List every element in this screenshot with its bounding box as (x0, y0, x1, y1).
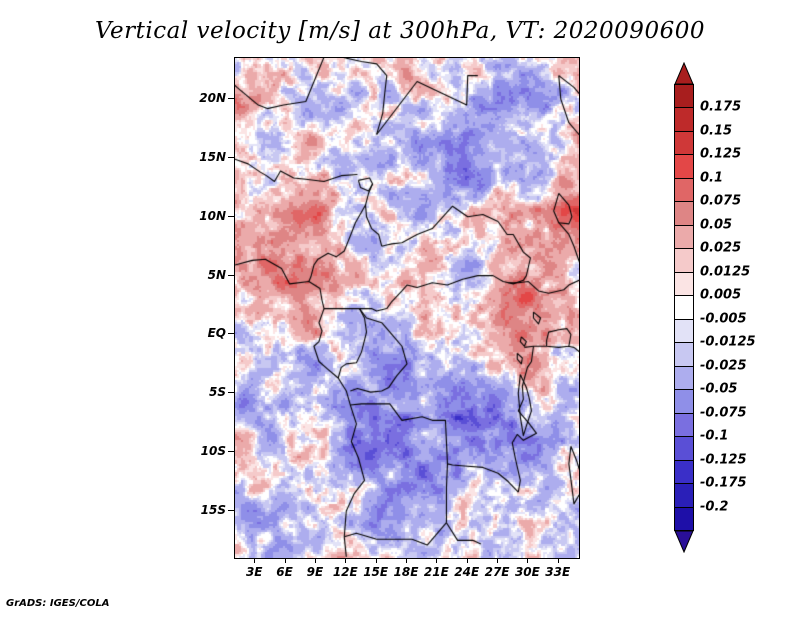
y-axis-tick-mark (228, 510, 234, 511)
footer-credit: GrADS: IGES/COLA (6, 598, 109, 609)
x-axis-tick-mark (315, 558, 316, 563)
colorbar-band (674, 295, 694, 319)
colorbar-tick-label: 0.005 (700, 288, 741, 303)
x-axis-tick-mark (285, 558, 286, 563)
x-axis-tick-mark (467, 558, 468, 563)
x-axis-tick-label: 15E (363, 565, 388, 579)
x-axis-tick-label: 21E (424, 565, 449, 579)
y-axis-tick-label: 15N (184, 150, 226, 164)
x-axis-tick-mark (406, 558, 407, 563)
colorbar-tick-label: -0.1 (700, 429, 728, 444)
y-axis-tick-label: EQ (184, 326, 226, 340)
x-axis-tick-label: 27E (485, 565, 510, 579)
colorbar-tick-label: 0.175 (700, 100, 741, 115)
x-axis-tick-mark (558, 558, 559, 563)
y-axis-tick-mark (228, 333, 234, 334)
colorbar-tick-label: -0.05 (700, 382, 737, 397)
colorbar-band (674, 84, 694, 108)
x-axis-tick-mark (436, 558, 437, 563)
map-plot-area (234, 57, 580, 559)
colorbar-band (674, 483, 694, 507)
colorbar-band (674, 154, 694, 178)
colorbar-tick-label: -0.2 (700, 499, 728, 514)
colorbar-band (674, 178, 694, 202)
colorbar-tick-label: 0.15 (700, 123, 732, 138)
x-axis-tick-mark (254, 558, 255, 563)
page-title: Vertical velocity [m/s] at 300hPa, VT: 2… (0, 18, 800, 44)
y-axis-tick-label: 20N (184, 91, 226, 105)
vertical-velocity-heatmap (235, 58, 579, 558)
colorbar-band (674, 131, 694, 155)
colorbar-band (674, 507, 694, 531)
colorbar-tick-label: 0.05 (700, 217, 732, 232)
x-axis-tick-mark (497, 558, 498, 563)
colorbar-band (674, 413, 694, 437)
x-axis-tick-label: 33E (545, 565, 570, 579)
grads-plot-window: Vertical velocity [m/s] at 300hPa, VT: 2… (0, 0, 800, 618)
colorbar-band (674, 436, 694, 460)
x-axis-tick-label: 18E (394, 565, 419, 579)
colorbar-band (674, 460, 694, 484)
colorbar-tick-label: -0.125 (700, 452, 747, 467)
x-axis-tick-mark (376, 558, 377, 563)
colorbar-tick-label: -0.075 (700, 405, 747, 420)
colorbar-band (674, 225, 694, 249)
y-axis-tick-mark (228, 451, 234, 452)
x-axis-tick-label: 3E (246, 565, 263, 579)
y-axis-tick-mark (228, 216, 234, 217)
colorbar-arrow-top-icon (674, 62, 694, 84)
y-axis-tick-label: 5N (184, 268, 226, 282)
colorbar-tick-label: -0.175 (700, 476, 747, 491)
x-axis-tick-label: 24E (454, 565, 479, 579)
colorbar-band (674, 366, 694, 390)
colorbar-tick-label: 0.1 (700, 170, 723, 185)
y-axis-tick-mark (228, 275, 234, 276)
colorbar-tick-label: 0.125 (700, 147, 741, 162)
y-axis-tick-mark (228, 98, 234, 99)
colorbar-band (674, 342, 694, 366)
x-axis-tick-label: 12E (333, 565, 358, 579)
y-axis-tick-label: 10N (184, 209, 226, 223)
x-axis-tick-mark (345, 558, 346, 563)
x-axis-tick-label: 6E (276, 565, 293, 579)
colorbar-band (674, 389, 694, 413)
colorbar-band (674, 248, 694, 272)
colorbar-band (674, 272, 694, 296)
colorbar-tick-label: -0.005 (700, 311, 747, 326)
colorbar-band (674, 201, 694, 225)
x-axis-tick-mark (527, 558, 528, 563)
colorbar-tick-label: -0.0125 (700, 335, 756, 350)
colorbar (674, 62, 694, 552)
y-axis-tick-mark (228, 157, 234, 158)
colorbar-band (674, 107, 694, 131)
colorbar-tick-label: -0.025 (700, 358, 747, 373)
colorbar-arrow-bottom-icon (674, 530, 694, 552)
y-axis-tick-mark (228, 392, 234, 393)
y-axis-tick-label: 5S (184, 385, 226, 399)
x-axis-tick-label: 9E (307, 565, 324, 579)
y-axis-tick-label: 15S (184, 503, 226, 517)
colorbar-tick-label: 0.025 (700, 241, 741, 256)
y-axis-tick-label: 10S (184, 444, 226, 458)
colorbar-tick-label: 0.0125 (700, 264, 750, 279)
colorbar-tick-label: 0.075 (700, 194, 741, 209)
colorbar-band (674, 319, 694, 343)
x-axis-tick-label: 30E (515, 565, 540, 579)
